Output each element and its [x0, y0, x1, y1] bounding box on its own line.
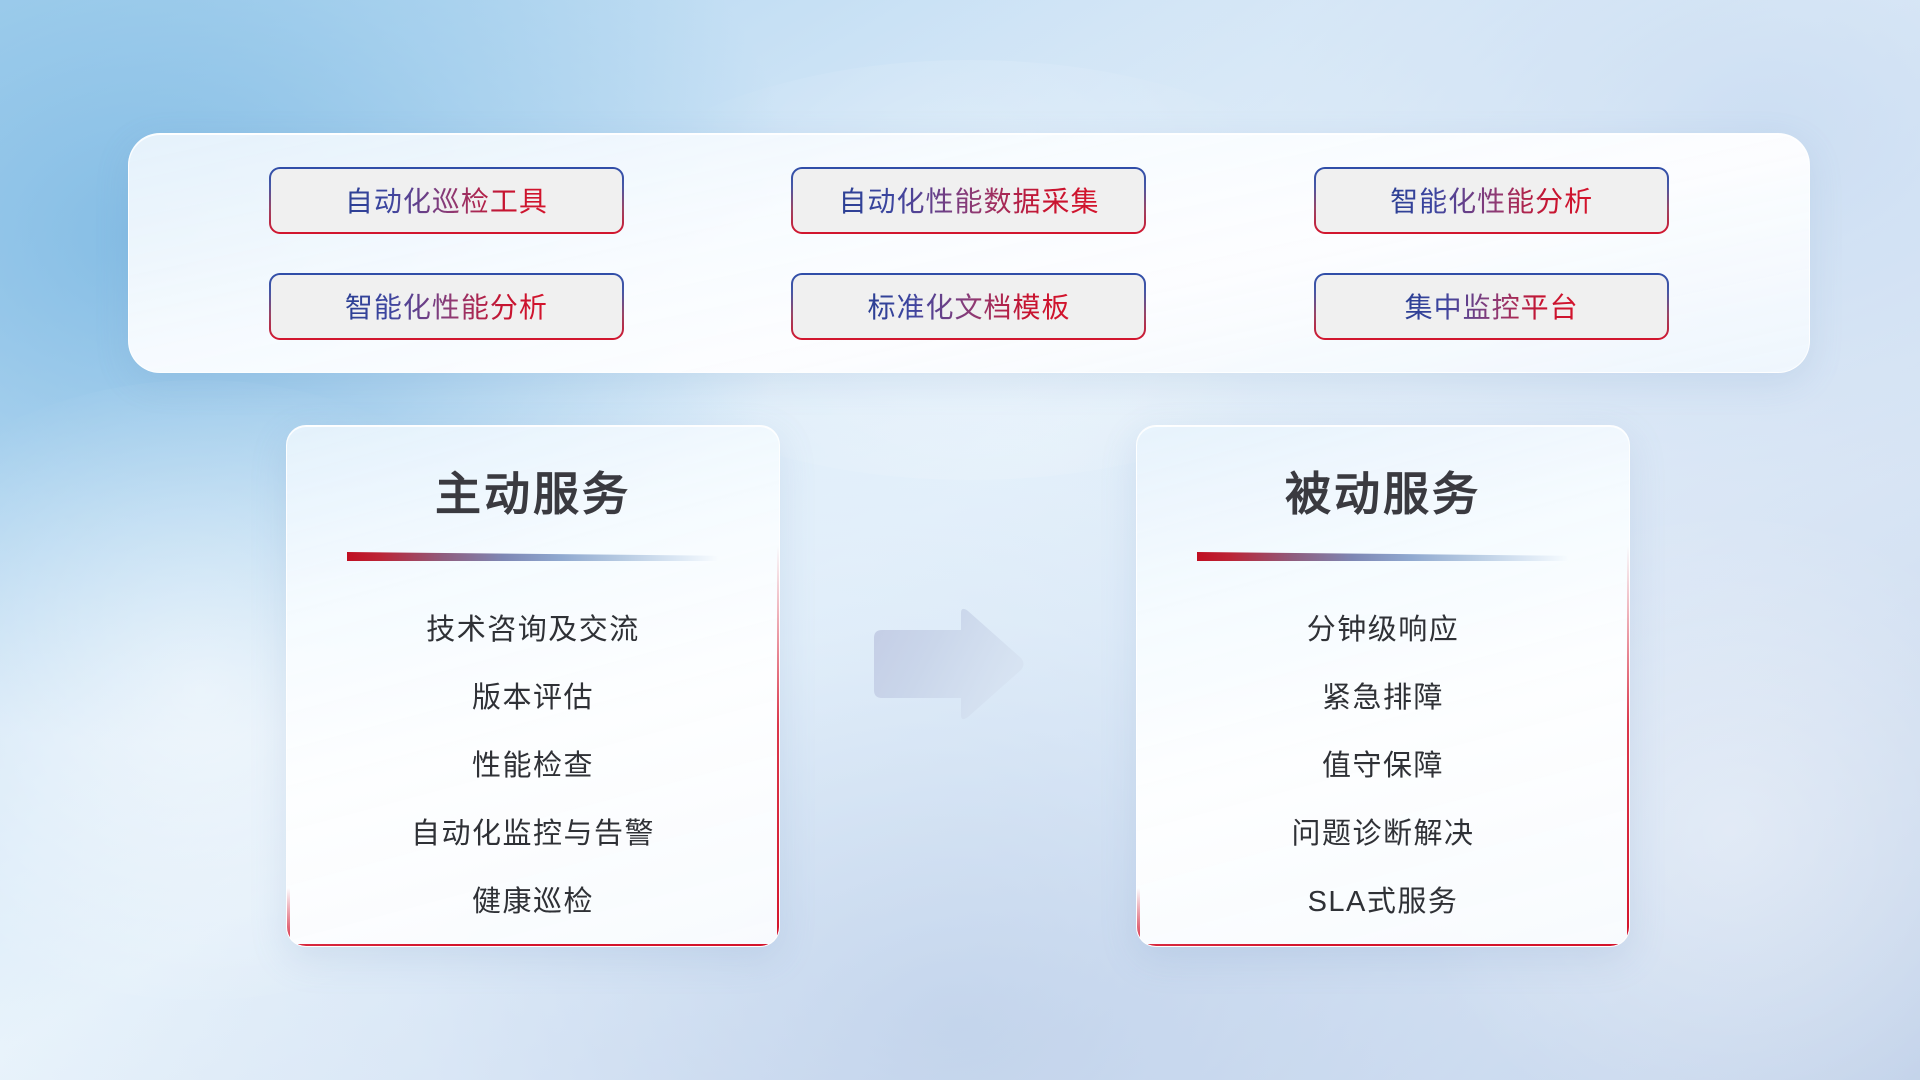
service-item[interactable]: 分钟级响应	[1307, 606, 1460, 648]
arrow-right-icon	[868, 608, 1026, 720]
service-item[interactable]: 值守保障	[1322, 742, 1444, 784]
service-item[interactable]: 紧急排障	[1322, 674, 1444, 716]
capability-tag[interactable]: 集中监控平台	[1314, 273, 1669, 340]
card-accent-bottom	[289, 944, 779, 947]
service-card-title: 被动服务	[1137, 458, 1629, 524]
service-item[interactable]: 健康巡检	[472, 878, 594, 920]
capability-tag-label: 智能化性能分析	[1390, 180, 1593, 220]
capability-tag[interactable]: 智能化性能分析	[1314, 167, 1669, 234]
service-card-active[interactable]: 主动服务 技术咨询及交流 版本评估 性能检查 自动化监控与告警 健康巡检	[286, 425, 780, 947]
service-item-list: 技术咨询及交流 版本评估 性能检查 自动化监控与告警 健康巡检	[287, 606, 779, 920]
card-accent-bottom	[1139, 944, 1629, 947]
service-item[interactable]: 性能检查	[472, 742, 594, 784]
capability-tag-label: 集中监控平台	[1405, 286, 1579, 326]
title-divider	[347, 550, 719, 562]
capability-tag-grid: 自动化巡检工具 自动化性能数据采集 智能化性能分析 智能化性能分析 标准化文档模…	[129, 134, 1809, 372]
service-item[interactable]: 自动化监控与告警	[411, 810, 655, 852]
capability-tag[interactable]: 自动化巡检工具	[269, 167, 624, 234]
capability-panel: 自动化巡检工具 自动化性能数据采集 智能化性能分析 智能化性能分析 标准化文档模…	[128, 133, 1810, 373]
capability-tag[interactable]: 智能化性能分析	[269, 273, 624, 340]
capability-tag-label: 标准化文档模板	[867, 286, 1070, 326]
title-divider	[1197, 550, 1569, 562]
capability-tag-label: 智能化性能分析	[345, 286, 548, 326]
service-item[interactable]: SLA式服务	[1308, 878, 1459, 920]
service-card-passive[interactable]: 被动服务 分钟级响应 紧急排障 值守保障 问题诊断解决 SLA式服务	[1136, 425, 1630, 947]
service-item[interactable]: 问题诊断解决	[1291, 810, 1474, 852]
service-item[interactable]: 版本评估	[472, 674, 594, 716]
capability-tag[interactable]: 自动化性能数据采集	[791, 167, 1146, 234]
capability-tag-label: 自动化性能数据采集	[838, 180, 1099, 220]
capability-tag[interactable]: 标准化文档模板	[791, 273, 1146, 340]
service-item[interactable]: 技术咨询及交流	[426, 606, 640, 648]
service-item-list: 分钟级响应 紧急排障 值守保障 问题诊断解决 SLA式服务	[1137, 606, 1629, 920]
card-accent-bottom-left	[1137, 888, 1140, 946]
card-accent-bottom-left	[287, 888, 290, 946]
diagram-canvas: 自动化巡检工具 自动化性能数据采集 智能化性能分析 智能化性能分析 标准化文档模…	[0, 0, 1920, 1080]
service-card-title: 主动服务	[287, 458, 779, 524]
capability-tag-label: 自动化巡检工具	[345, 180, 548, 220]
